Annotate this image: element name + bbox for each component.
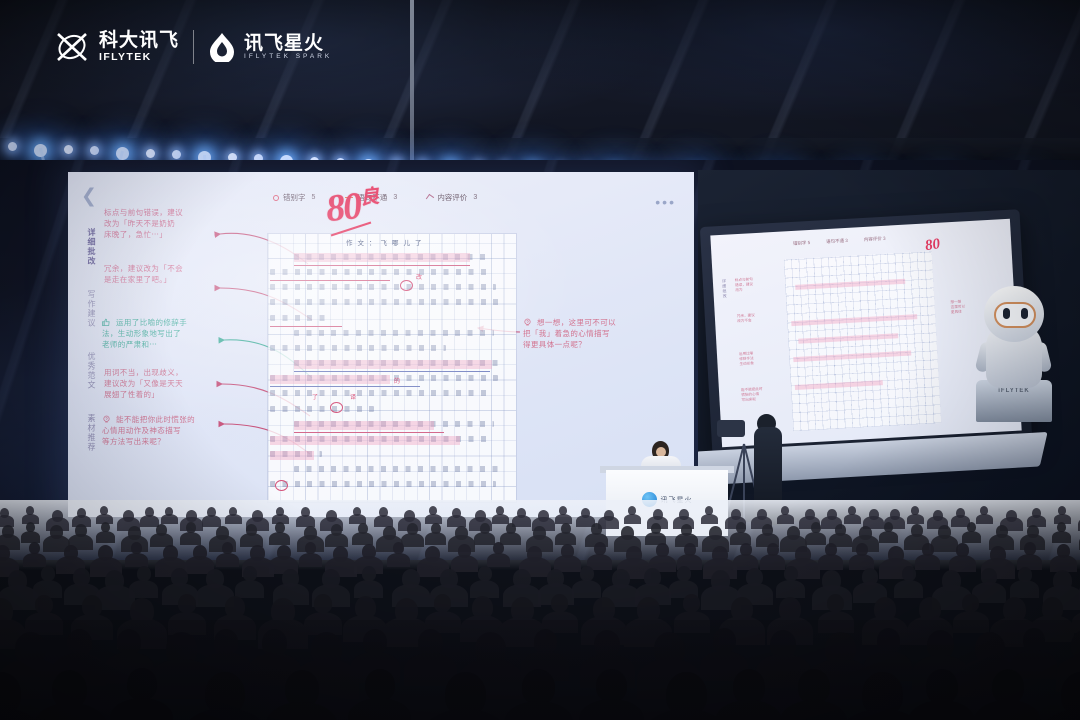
tab-content-review[interactable]: 内容评价 3 <box>427 192 477 203</box>
stage-light <box>146 149 155 158</box>
laptop-tab-1: 语句不通 3 <box>826 238 848 245</box>
score-value: 80 <box>324 185 362 230</box>
mascot-eye-right <box>1021 308 1028 319</box>
sidebar-item-model-essays[interactable]: 优秀范文 <box>70 352 96 390</box>
error-circle <box>400 280 413 291</box>
annotation-4-line-2: 展翅了性着的」 <box>104 390 218 401</box>
audience-head <box>677 566 691 581</box>
spark-cn-label: 讯飞星火 <box>244 34 332 54</box>
video-camera <box>717 420 745 437</box>
brand-divider <box>193 30 194 64</box>
audience-shoulders <box>500 532 521 545</box>
insert-mark: 了 <box>312 392 318 401</box>
annotation-1-line-0: 标点与前句错误，建议 <box>104 208 216 219</box>
audience-shoulders <box>216 553 239 567</box>
audience-shoulders <box>776 580 805 598</box>
audience-shoulders <box>701 514 718 524</box>
annotation-6-line-0: 想一想，这里可不可以 <box>537 318 616 329</box>
audience-head <box>243 566 257 581</box>
ink-line <box>294 330 494 336</box>
correction-underline <box>270 280 390 281</box>
insert-mark: 译 <box>350 392 356 401</box>
audience-shoulders <box>325 533 348 547</box>
iflytek-x-mark <box>55 30 91 64</box>
audience-shoulders <box>572 580 601 598</box>
audience-head <box>478 566 492 581</box>
laptop-mini-rail: 详细批改 <box>717 279 731 349</box>
highlight <box>270 436 460 445</box>
annotation-5-line-0: 能不能把你此时慌张的 <box>116 415 195 426</box>
laptop-tab-0: 错别字 5 <box>793 240 811 247</box>
audience-shoulders <box>125 553 148 567</box>
venue-scene: ❮ ••• 错别字 5 语句不通 3 内容评价 3 详细批改 <box>0 0 1080 720</box>
back-chevron-icon[interactable]: ❮ <box>78 184 100 210</box>
essay-score: 80良 <box>324 181 380 231</box>
audience-head <box>551 594 568 612</box>
iflytek-cn-label: 科大讯飞 <box>99 31 179 51</box>
audience-shoulders <box>962 531 981 543</box>
question-bulb-icon <box>102 415 111 424</box>
highlight <box>294 421 434 430</box>
laptop-mini-annotation: 运用比喻修辞手法生动形象 <box>739 351 754 367</box>
audience-shoulders <box>555 532 576 545</box>
audience-seating <box>0 500 1080 720</box>
annotation-2-line-0: 冗余，建议改为「不会 <box>104 264 216 275</box>
annotation-1: 标点与前句错误，建议 改为「昨天不是奶奶 床晚了，急忙⋯」 <box>104 208 216 241</box>
audience-head <box>41 566 55 581</box>
ink-line <box>270 315 332 321</box>
mascot-eye-left <box>1003 308 1010 319</box>
audience-shoulders <box>202 515 221 527</box>
audience-head <box>962 594 979 612</box>
insert-mark: 的 <box>394 376 400 385</box>
ink-line <box>270 406 374 412</box>
correction-underline <box>294 432 444 433</box>
correction-underline <box>270 326 342 327</box>
ink-line <box>270 481 496 487</box>
audience-shoulders <box>474 532 495 545</box>
sidebar-label-2: 优秀范文 <box>87 352 96 390</box>
audience-shoulders <box>387 553 410 567</box>
audience-shoulders <box>931 535 958 552</box>
audience-shoulders <box>1052 531 1071 543</box>
audience-shoulders <box>492 514 509 524</box>
audience-shoulders <box>894 580 923 598</box>
caret-marker-icon <box>426 193 434 201</box>
audience-shoulders <box>451 555 478 572</box>
audience-shoulders <box>818 554 843 570</box>
sidebar-rail: 详细批改 写作建议 优秀范文 素材推荐 <box>70 224 96 476</box>
audience-head <box>137 566 151 581</box>
audience-shoulders <box>425 532 446 545</box>
annotation-6: 想一想，这里可不可以 把「我」着急的心情描写 得更具体一点呢？ <box>523 318 633 351</box>
spark-flame-icon <box>208 32 236 62</box>
correction-underline <box>270 386 420 387</box>
error-circle <box>330 402 343 413</box>
audience-shoulders <box>777 514 794 524</box>
mascot-visor <box>994 302 1036 328</box>
audience-head <box>434 594 451 612</box>
audience-head <box>827 594 844 612</box>
audience-shoulders <box>235 580 264 598</box>
sidebar-label-3: 素材推荐 <box>87 414 96 452</box>
essay-paper[interactable]: 作文：飞哪儿了 <box>268 234 516 502</box>
tab-content-count: 3 <box>473 194 477 201</box>
audience-shoulders <box>805 532 826 545</box>
audience-shoulders <box>180 532 201 545</box>
stage-light <box>172 150 181 159</box>
annotation-3-line-2: 老师的严肃和⋯ <box>102 340 220 351</box>
laptop-mini-score: 80 <box>924 236 942 255</box>
annotation-3-line-0: 运用了比喻的修辞手 <box>116 318 187 329</box>
stage-light <box>64 145 73 154</box>
annotation-3: 运用了比喻的修辞手 法，生动形象地写出了 老师的严肃和⋯ <box>102 318 220 351</box>
audience-shoulders <box>140 515 159 527</box>
audience-head <box>784 566 798 581</box>
audience-shoulders <box>269 532 290 545</box>
audience-shoulders <box>354 580 383 598</box>
tab-content-label: 内容评价 <box>437 192 467 203</box>
audience-shoulders <box>296 515 315 527</box>
tab-typos[interactable]: 错别字 5 <box>273 192 315 203</box>
annotation-4-line-1: 建议改为「又像是天天 <box>104 379 218 390</box>
brand-logos: 科大讯飞 IFLYTEK 讯飞星火 IFLYTEK SPARK <box>55 30 332 64</box>
ink-line <box>270 345 446 351</box>
ink-line <box>270 284 496 290</box>
laptop-mini-paper <box>784 251 941 431</box>
laptop-mini-annotation: 标点与前句错误，建议改为 <box>735 277 754 293</box>
audience-shoulders <box>401 533 424 547</box>
highlight <box>294 253 470 262</box>
audience-shoulders <box>1010 580 1039 598</box>
sidebar-label-1: 写作建议 <box>87 290 96 328</box>
annotation-2: 冗余，建议改为「不会 是走在家里了吧。」 <box>104 264 216 286</box>
sidebar-item-material-recommend[interactable]: 素材推荐 <box>70 414 96 452</box>
sidebar-item-writing-advice[interactable]: 写作建议 <box>70 290 96 328</box>
audience-shoulders <box>352 532 373 545</box>
annotation-5: 能不能把你此时慌张的 心情用动作及神态描写 等方法写出来呢？ <box>102 415 222 448</box>
ink-line <box>270 269 492 275</box>
audience-shoulders <box>487 553 510 567</box>
audience-shoulders <box>21 531 40 543</box>
audience-shoulders <box>760 554 785 570</box>
tab-typos-count: 5 <box>312 194 316 201</box>
tab-grammar-count: 3 <box>393 194 397 201</box>
annotation-3-line-1: 法，生动形象地写出了 <box>102 329 220 340</box>
audience-head <box>362 566 376 581</box>
spark-en-label: IFLYTEK SPARK <box>244 53 332 60</box>
audience-foreground-shade <box>0 620 1080 720</box>
audience-shoulders <box>447 515 466 527</box>
sidebar-label-0: 详细批改 <box>87 228 96 266</box>
highlight <box>270 451 314 460</box>
mascot-pedestal-label: iFLYTEK <box>976 388 1052 394</box>
laptop-mini-tabs: 错别字 5 语句不通 3 内容评价 3 <box>793 236 886 247</box>
ceiling-pole <box>410 0 414 160</box>
annotation-6-line-1: 把「我」着急的心情描写 <box>523 329 633 340</box>
annotation-2-line-1: 是走在家里了吧。」 <box>104 275 216 286</box>
tab-typos-label: 错别字 <box>283 192 306 203</box>
iflytek-en-label: IFLYTEK <box>99 51 179 63</box>
error-circle <box>275 480 288 491</box>
audience-shoulders <box>299 553 322 567</box>
more-dots-icon[interactable]: ••• <box>655 194 676 210</box>
annotation-5-line-2: 等方法写出来呢？ <box>102 437 222 448</box>
essay-title: 作文：飞哪儿了 <box>346 237 427 247</box>
iflytek-logo: 科大讯飞 IFLYTEK <box>55 30 179 64</box>
circle-marker-icon <box>273 195 279 201</box>
annotation-1-line-1: 改为「昨天不是奶奶 <box>104 219 216 230</box>
audience-shoulders <box>915 554 940 570</box>
audience-shoulders <box>225 514 242 524</box>
audience-head <box>178 594 196 613</box>
stage-light <box>90 146 99 155</box>
stage-light <box>8 142 17 151</box>
ink-line <box>270 299 502 305</box>
audience-head <box>314 594 332 613</box>
annotation-5-line-1: 心情用动作及神态描写 <box>102 426 222 437</box>
insert-mark: 改 <box>416 272 422 281</box>
audience-shoulders <box>976 514 993 524</box>
laptop-mini-annotation: 能不能把此时慌张的心情写出来呢 <box>741 387 763 403</box>
audience-shoulders <box>879 531 898 543</box>
audience-shoulders <box>129 580 158 598</box>
sidebar-item-detailed-correction[interactable]: 详细批改 <box>70 224 96 266</box>
highlight <box>294 360 492 369</box>
audience-shoulders <box>844 514 861 524</box>
thumbs-up-icon <box>102 318 111 327</box>
astronaut-mascot: iFLYTEK <box>960 272 1068 422</box>
spark-logo: 讯飞星火 IFLYTEK SPARK <box>208 32 332 62</box>
score-grade: 良 <box>359 186 378 209</box>
annotation-1-line-2: 床晚了，急忙⋯」 <box>104 230 216 241</box>
correction-underline <box>294 371 490 372</box>
ink-line <box>294 466 498 472</box>
question-bulb-icon <box>523 318 532 327</box>
audience-head <box>683 594 700 612</box>
audience-head <box>580 566 594 581</box>
laptop-mini-annotation: 冗余，建议改为不会 <box>737 313 756 324</box>
audience-shoulders <box>907 514 924 524</box>
annotation-6-line-2: 得更具体一点呢？ <box>523 340 633 351</box>
annotation-4: 用词不当，出现歧义， 建议改为「又像是天天 展翅了性着的」 <box>104 368 218 401</box>
audience-shoulders <box>23 553 46 567</box>
highlight <box>270 375 390 384</box>
laptop-tab-2: 内容评价 3 <box>864 236 886 243</box>
audience-shoulders <box>96 531 115 543</box>
audience-shoulders <box>161 514 178 524</box>
correction-underline <box>294 265 470 266</box>
audience-head <box>902 566 916 581</box>
ink-line <box>270 390 492 396</box>
annotation-4-line-0: 用词不当，出现歧义， <box>104 368 218 379</box>
audience-shoulders <box>624 514 641 524</box>
